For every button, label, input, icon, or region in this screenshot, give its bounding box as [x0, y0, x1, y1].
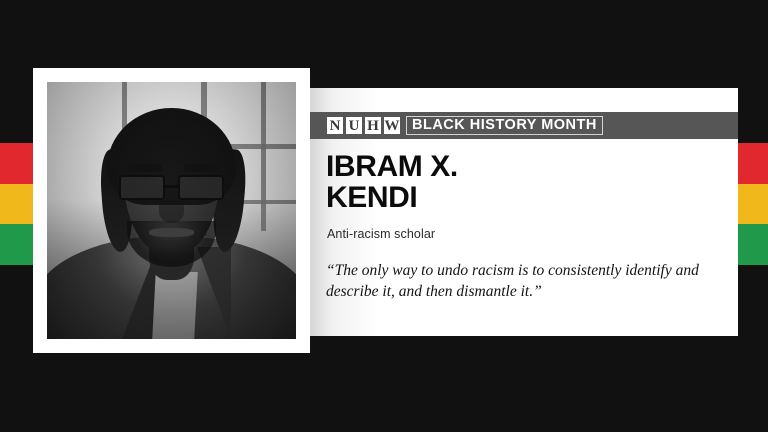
person-role: Anti-racism scholar [327, 227, 435, 241]
flag-band-green [734, 224, 768, 265]
info-card: N U H W BLACK HISTORY MONTH IBRAM X. KEN… [310, 88, 738, 336]
black-history-month-banner: N U H W BLACK HISTORY MONTH [310, 112, 738, 139]
flag-band-green [0, 224, 34, 265]
nuhw-logo-letter: U [345, 116, 363, 135]
nuhw-logo-letter: H [364, 116, 382, 135]
flag-band-yellow [734, 184, 768, 225]
nuhw-logo: N U H W [326, 116, 401, 135]
person-quote: “The only way to undo racism is to consi… [326, 261, 716, 303]
nuhw-logo-letter: N [326, 116, 344, 135]
flag-band-red [0, 143, 34, 184]
flag-bars-left [0, 143, 34, 265]
person-name: IBRAM X. KENDI [326, 152, 458, 213]
slide-canvas: N U H W BLACK HISTORY MONTH IBRAM X. KEN… [0, 0, 768, 432]
portrait-photo [47, 82, 296, 339]
banner-title: BLACK HISTORY MONTH [406, 116, 603, 136]
photo-vignette [47, 82, 296, 339]
flag-band-yellow [0, 184, 34, 225]
flag-band-red [734, 143, 768, 184]
portrait-frame [33, 68, 310, 353]
nuhw-logo-letter: W [383, 116, 401, 135]
flag-bars-right [734, 143, 768, 265]
